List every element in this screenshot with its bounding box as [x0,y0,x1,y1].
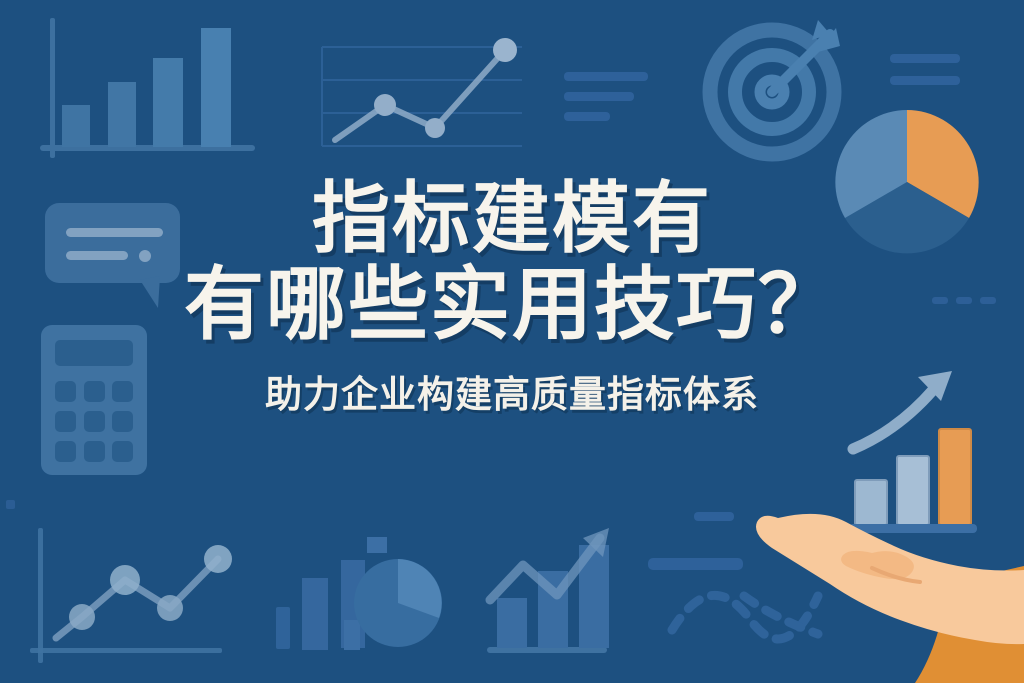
title-line-1: 指标建模有 [0,178,1024,259]
subtitle: 助力企业构建高质量指标体系 [0,364,1024,418]
edge-marks-icon [6,500,15,509]
title-line-2: 有哪些实用技巧？ [0,263,1024,346]
poster-canvas: 指标建模有 有哪些实用技巧？ 助力企业构建高质量指标体系 [0,0,1024,683]
title-block: 指标建模有 有哪些实用技巧？ 助力企业构建高质量指标体系 [0,178,1024,418]
pie-chart-bottom-middle-icon [354,559,442,647]
